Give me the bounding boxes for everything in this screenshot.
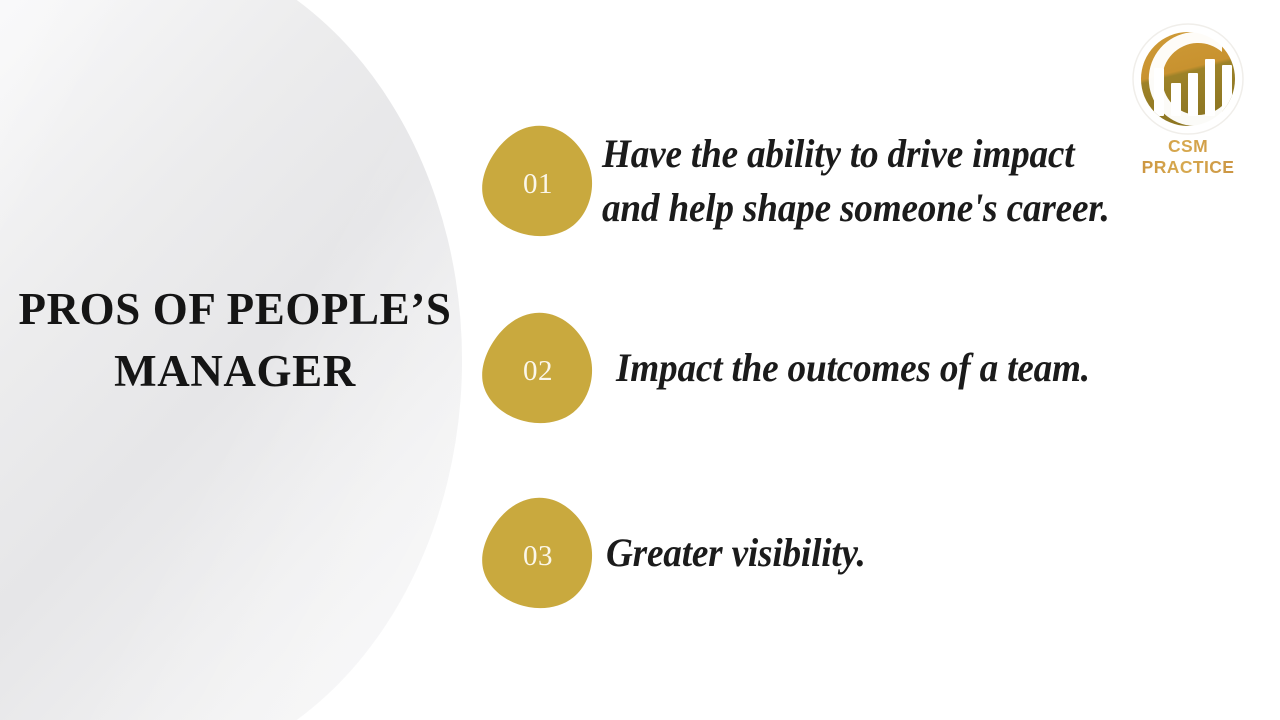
- brand-logo: CSM PRACTICE: [1126, 21, 1250, 167]
- logo-wordmark: CSM PRACTICE: [1126, 136, 1250, 178]
- slide-canvas: PROS OF PEOPLE’S MANAGER 01 Have the abi…: [0, 0, 1280, 720]
- list-item: 03 Greater visibility.: [482, 496, 1280, 610]
- bar-chart-circle-icon: [1126, 21, 1250, 139]
- list-item: 02 Impact the outcomes of a team.: [482, 311, 1280, 425]
- item-number-label: 01: [482, 168, 594, 201]
- item-text-line-2: and help shape someone's career.: [602, 181, 1233, 235]
- item-number-label: 03: [482, 540, 594, 573]
- page-title: PROS OF PEOPLE’S MANAGER: [0, 278, 470, 402]
- number-badge-02: 02: [482, 311, 594, 425]
- number-badge-03: 03: [482, 496, 594, 610]
- item-text-02: Impact the outcomes of a team.: [616, 341, 1090, 395]
- title-line-1: PROS OF PEOPLE’S: [0, 278, 470, 340]
- title-line-2: MANAGER: [0, 340, 470, 402]
- item-number-label: 02: [482, 355, 594, 388]
- item-text-03: Greater visibility.: [606, 526, 866, 580]
- item-text-line-1: Greater visibility.: [606, 526, 866, 580]
- item-text-line-1: Impact the outcomes of a team.: [616, 341, 1090, 395]
- number-badge-01: 01: [482, 124, 594, 238]
